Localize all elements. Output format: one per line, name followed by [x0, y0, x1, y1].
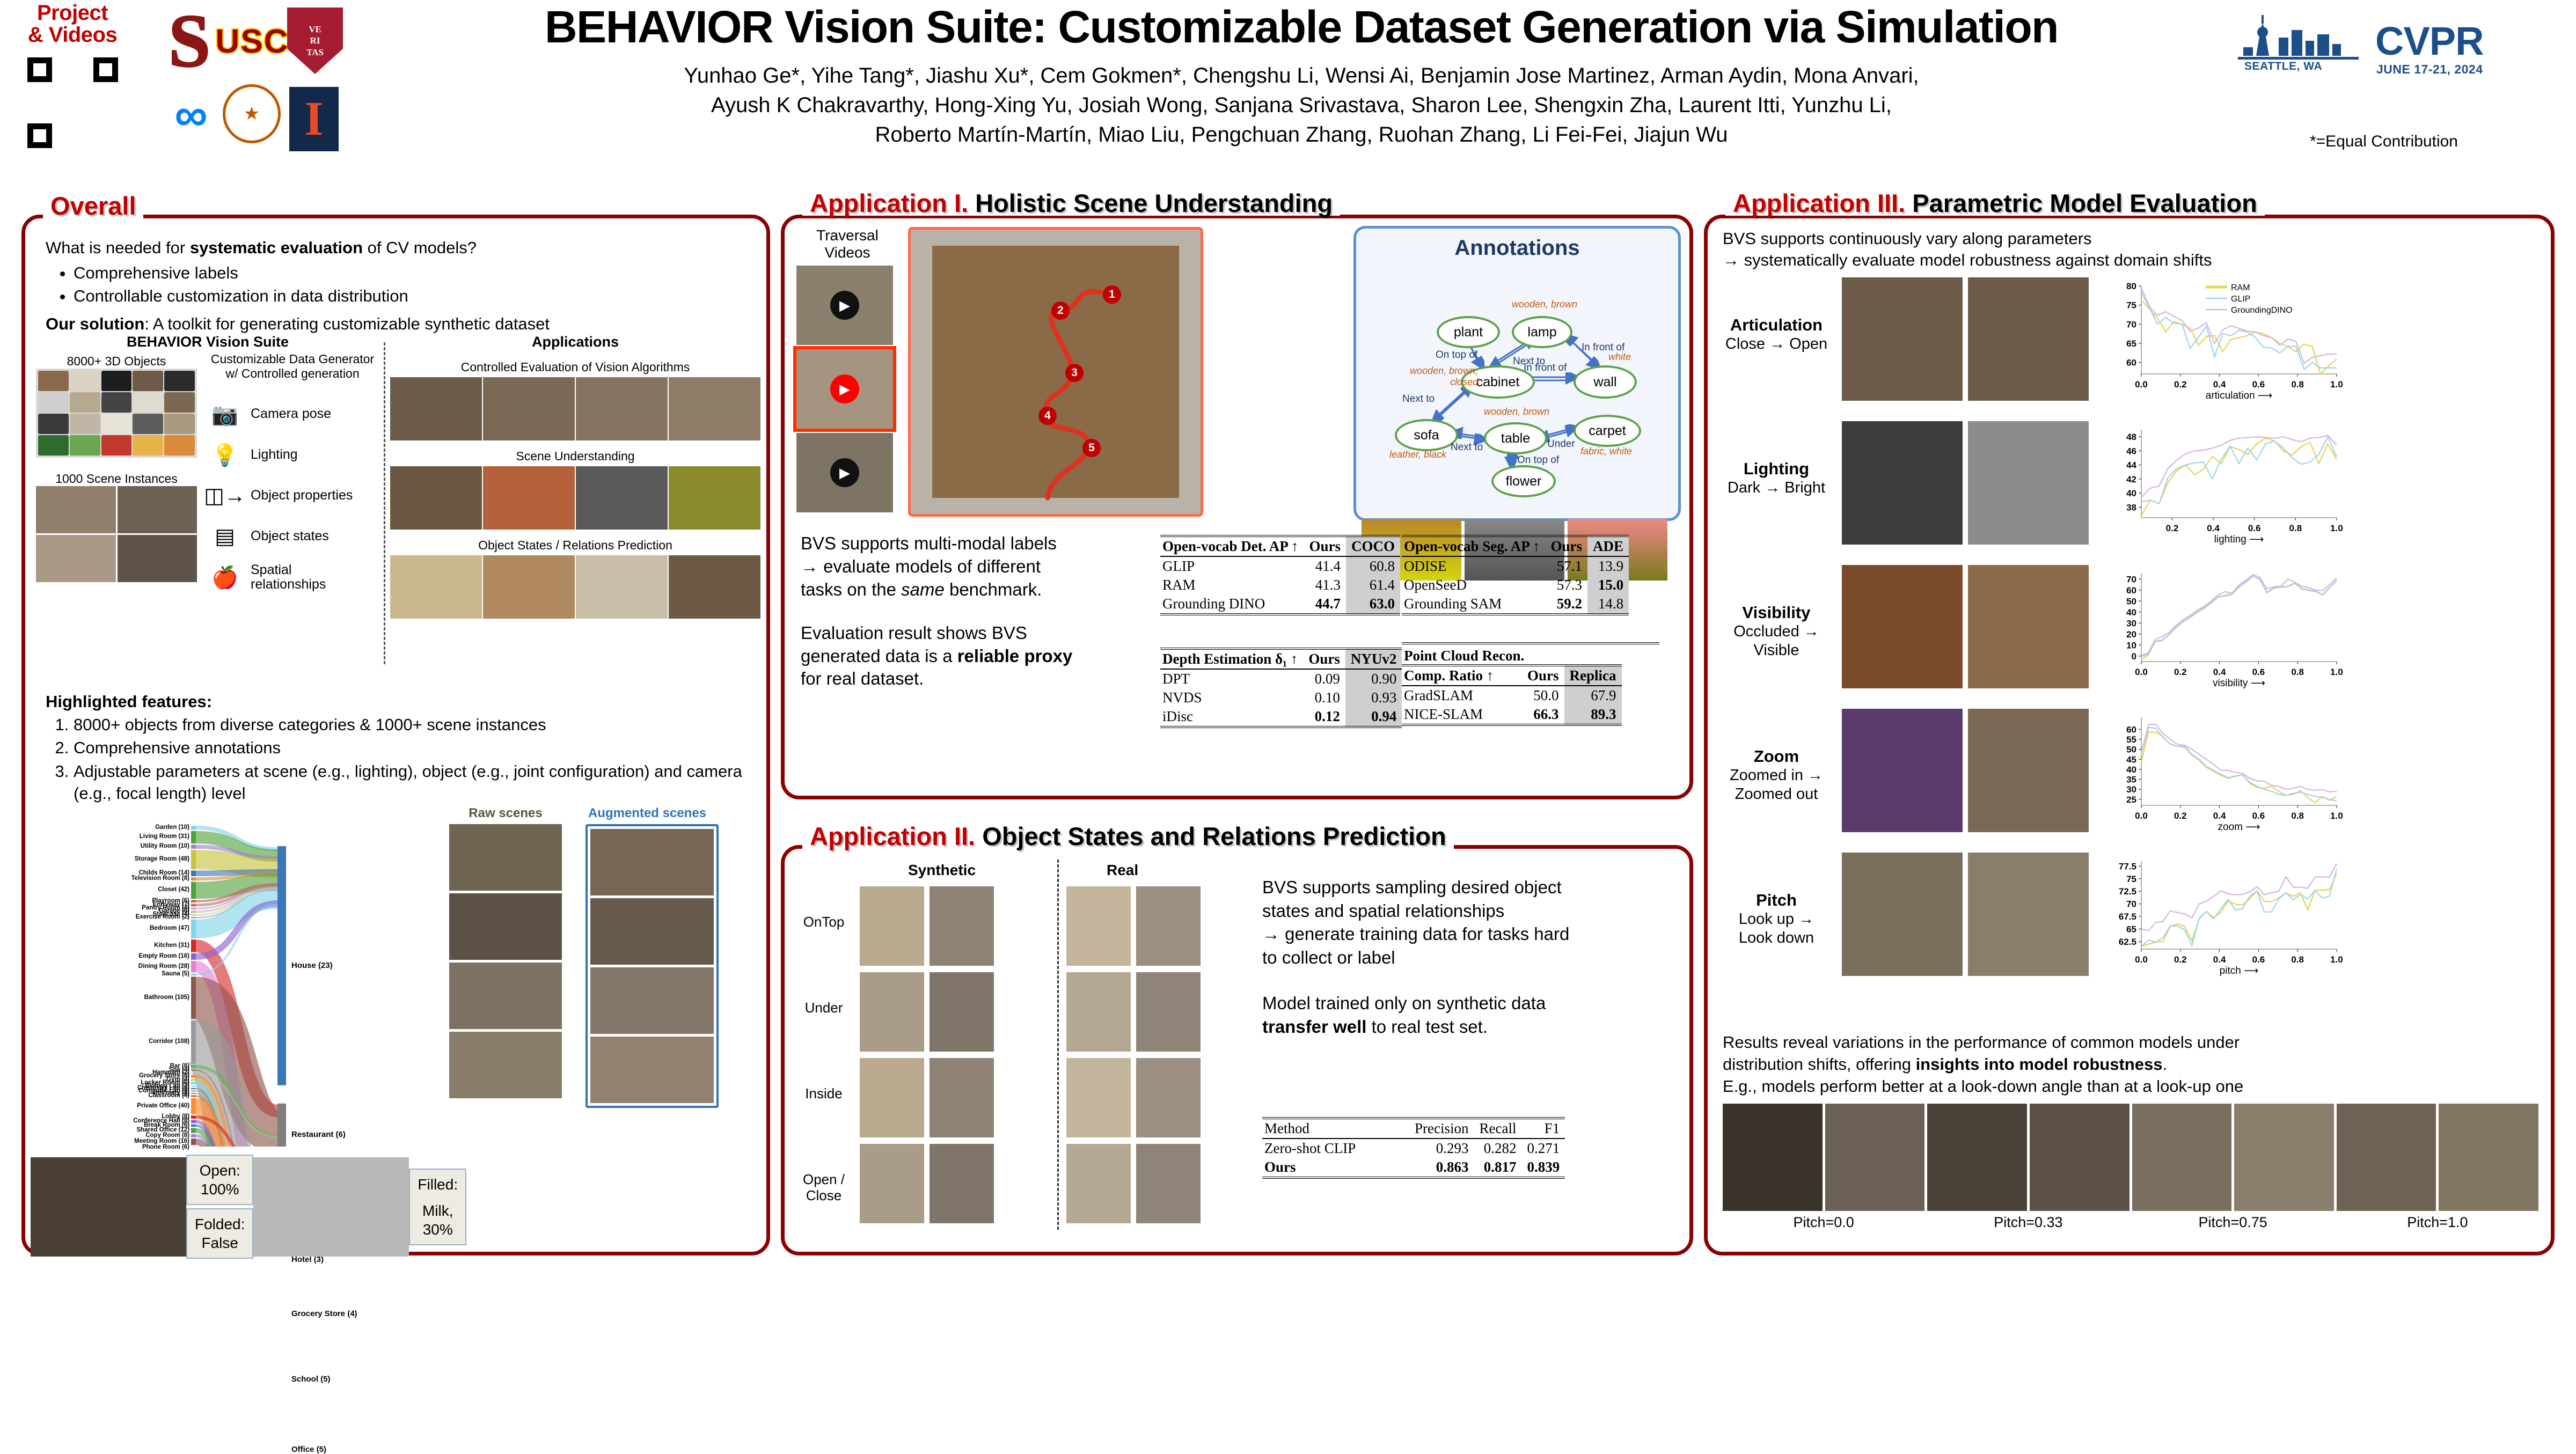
video-thumbnail-3[interactable]: ▶	[796, 433, 893, 512]
table-header-cell: ADE	[1587, 536, 1629, 556]
app1-text2-a: Evaluation result shows BVS	[801, 623, 1027, 643]
overall-bullet-list: Comprehensive labels Controllable custom…	[46, 262, 738, 307]
table-cell: GLIP	[1160, 556, 1304, 576]
waypoint-4: 4	[1038, 407, 1057, 425]
app3-pitch-gallery: Pitch=0.0 Pitch=0.33 Pitch=0.75 Pitch=1.…	[1723, 1104, 2538, 1231]
app3-plot-svg: 3840424446480.20.40.60.81.0lighting ⟶	[2099, 418, 2346, 546]
table-cell: 0.271	[1521, 1139, 1565, 1158]
graph-node-lamp: lamp	[1512, 316, 1572, 348]
table-cell: Ours	[1262, 1158, 1409, 1178]
app3-conclusion-bold: insights into model robustness	[1916, 1055, 2163, 1074]
waypoint-5: 5	[1082, 439, 1101, 457]
app3-row-name: Visibility	[1717, 603, 1835, 622]
svg-text:0.2: 0.2	[2174, 811, 2187, 821]
scene-graph: plant lamp cabinet wall sofa table carpe…	[1356, 260, 1678, 507]
authors-line-3-wrap: Roberto Martín-Martín, Miao Liu, Pengchu…	[376, 120, 2227, 150]
play-icon-1[interactable]: ▶	[830, 291, 859, 320]
sankey-target-label: Office (5)	[291, 1445, 326, 1453]
svg-text:0.8: 0.8	[2291, 811, 2304, 821]
augmented-scenes-label: Augmented scenes	[586, 806, 709, 821]
table-row: RAM41.361.4	[1160, 576, 1400, 594]
table-cell: 0.839	[1521, 1158, 1565, 1178]
app2-text-b: states and spatial relationships	[1262, 901, 1504, 921]
table-cell: 41.4	[1304, 556, 1346, 576]
svg-text:50: 50	[2126, 596, 2136, 606]
pointcloud-header-line1: Point Cloud Recon.	[1402, 644, 1659, 664]
svg-text:0.4: 0.4	[2207, 523, 2220, 533]
app1-text2-b: generated data is a	[801, 646, 957, 666]
callout-open-line1: Open:	[195, 1161, 245, 1180]
table-cell: 89.3	[1564, 705, 1622, 725]
graph-node-table: table	[1484, 422, 1547, 454]
app3-conclusion-c: .	[2162, 1055, 2167, 1074]
app2-text-d: to collect or label	[1262, 948, 1395, 967]
svg-text:30: 30	[2126, 618, 2136, 628]
svg-text:65: 65	[2126, 924, 2136, 935]
svg-text:75: 75	[2126, 874, 2136, 884]
table-row: ODISE57.113.9	[1402, 556, 1629, 576]
overall-solution-text: : A toolkit for generating customizable …	[144, 314, 550, 333]
app2-text-bold: transfer well	[1262, 1017, 1366, 1037]
ut-austin-seal-icon: ★	[223, 84, 281, 143]
state-image-towel	[31, 1157, 186, 1257]
app-section-label-1: Scene Understanding	[390, 449, 760, 464]
cvpr-dates: JUNE 17-21, 2024	[2376, 62, 2483, 77]
scene-thumbnail-grid	[36, 486, 197, 582]
app3-intro-a: BVS supports continuously vary along par…	[1723, 228, 2538, 249]
poster-root: Project & Videos S USC VE RI TAS ∞	[0, 0, 2576, 1288]
table-header-cell: COCO	[1346, 536, 1400, 556]
sankey-source-label: Bedroom (47)	[150, 926, 189, 932]
app2-example-image	[1066, 1058, 1131, 1137]
table-row: NVDS0.100.93	[1160, 688, 1402, 707]
app1-text-2: Evaluation result shows BVS generated da…	[801, 622, 1139, 691]
app2-text-block-2: Model trained only on synthetic data tra…	[1262, 992, 1638, 1038]
graph-edge-nextto-sofa: Next to	[1402, 393, 1435, 405]
callout-folded-line1: Folded:	[195, 1215, 245, 1233]
svg-text:articulation ⟶: articulation ⟶	[2206, 390, 2272, 401]
app3-plot-articulation: 60657075800.00.20.40.60.81.0articulation…	[2099, 274, 2346, 402]
video-thumbnail-1[interactable]: ▶	[796, 266, 893, 345]
app2-title-red: Application II.	[810, 822, 975, 850]
video-thumbnail-2[interactable]: ▶	[796, 349, 893, 429]
ut-austin-logo: ★	[223, 85, 281, 143]
app1-text1-b: → evaluate models of different	[801, 556, 1041, 576]
svg-text:0.6: 0.6	[2248, 523, 2261, 533]
svg-text:45: 45	[2126, 754, 2136, 765]
table-header-cell: Depth Estimation δ₁ ↑	[1160, 649, 1303, 669]
svg-text:1.0: 1.0	[2330, 667, 2343, 677]
svg-text:67.5: 67.5	[2119, 912, 2136, 922]
graph-edge-ontop-flower: On top of	[1517, 454, 1559, 466]
app1-title-black: Holistic Scene Understanding	[975, 189, 1333, 217]
app3-parameter-image	[1968, 421, 2089, 545]
authors-line-2: Ayush K Chakravarthy, Hong-Xing Yu, Josi…	[376, 91, 2227, 120]
svg-text:RAM: RAM	[2231, 283, 2250, 292]
app2-row-label: OnTop	[794, 914, 853, 930]
app3-parameter-image	[1842, 277, 1963, 401]
graph-node-wall: wall	[1574, 365, 1637, 399]
app2-title-black: Object States and Relations Prediction	[982, 822, 1446, 850]
app3-row-name: Pitch	[1717, 890, 1835, 910]
graph-edge-under-carpet: Under	[1547, 438, 1575, 450]
app2-section-title: Application II. Object States and Relati…	[802, 824, 1454, 849]
table-cell: 0.09	[1303, 669, 1345, 688]
pitch-label-0: Pitch=0.0	[1723, 1214, 1924, 1231]
app-section-label-2: Object States / Relations Prediction	[390, 538, 760, 553]
svg-text:0.4: 0.4	[2213, 667, 2226, 677]
app1-text1-c: tasks on the	[801, 579, 901, 599]
svg-text:0: 0	[2132, 651, 2136, 662]
app3-conclusion-d: E.g., models perform better at a look-do…	[1723, 1075, 2538, 1097]
cvpr-wordmark: CVPR	[2375, 18, 2484, 64]
app3-plot-svg: 25303540455055600.00.20.40.60.81.0zoom ⟶	[2099, 706, 2346, 833]
app2-example-image	[1136, 1144, 1201, 1223]
graph-edge-nextto-table: Next to	[1451, 442, 1483, 453]
overall-solution: Our solution: A toolkit for generating c…	[46, 313, 738, 335]
svg-text:72.5: 72.5	[2119, 886, 2136, 897]
state-image-cup	[253, 1157, 409, 1257]
table-cell: NVDS	[1160, 688, 1303, 707]
annotations-card: Annotations	[1353, 226, 1681, 521]
table-cell: 0.94	[1345, 707, 1402, 727]
app3-pitch-labels: Pitch=0.0 Pitch=0.33 Pitch=0.75 Pitch=1.…	[1723, 1214, 2538, 1231]
title-block: BEHAVIOR Vision Suite: Customizable Data…	[376, 3, 2227, 150]
app2-text-f: to real test set.	[1366, 1017, 1488, 1037]
svg-text:46: 46	[2126, 446, 2136, 456]
equal-contribution-note: *=Equal Contribution	[2310, 130, 2458, 152]
table-cell: 61.4	[1346, 576, 1400, 594]
app3-row-name: Articulation	[1717, 315, 1835, 335]
app3-title-black: Parametric Model Evaluation	[1912, 189, 2257, 217]
table-row: Zero-shot CLIP0.2930.2820.271	[1262, 1139, 1565, 1158]
table-row: Grounding DINO44.763.0	[1160, 594, 1400, 614]
table-cell: 50.0	[1522, 686, 1564, 705]
app2-text-block-1: BVS supports sampling desired object sta…	[1262, 876, 1638, 969]
svg-text:0.2: 0.2	[2166, 523, 2179, 533]
svg-text:1.0: 1.0	[2330, 379, 2343, 390]
table-depth-estimation: Depth Estimation δ₁ ↑OursNYUv2DPT0.090.9…	[1160, 648, 1402, 728]
svg-text:77.5: 77.5	[2119, 861, 2136, 871]
svg-text:0.8: 0.8	[2291, 954, 2304, 965]
app2-example-image	[930, 1058, 994, 1137]
app1-text-1: BVS supports multi-modal labels → evalua…	[801, 532, 1139, 601]
sankey-source-label: Classroom (4)	[148, 1093, 189, 1099]
generator-feature-label-3: Object states	[251, 529, 329, 544]
app-section-label-0: Controlled Evaluation of Vision Algorith…	[390, 360, 760, 374]
svg-text:75: 75	[2126, 300, 2136, 311]
table-cell: 0.10	[1303, 688, 1345, 707]
cvpr-logo: SEATTLE, WA CVPR JUNE 17-21, 2024	[2233, 11, 2533, 86]
objects-label: 8000+ 3D Objects	[36, 354, 197, 369]
app2-example-image	[930, 972, 994, 1052]
pitch-label-2: Pitch=0.75	[2132, 1214, 2334, 1231]
table-cell: 0.863	[1409, 1158, 1474, 1178]
callout-filled-line3: 30%	[418, 1220, 458, 1239]
svg-text:70: 70	[2126, 574, 2136, 584]
table-cell: 66.3	[1522, 705, 1564, 725]
app1-text2-c: for real dataset.	[801, 669, 924, 688]
generator-block: Customizable Data Generator w/ Controlle…	[207, 352, 378, 598]
app2-example-image	[1136, 972, 1201, 1052]
app1-text1-italic: same	[901, 579, 945, 599]
app3-row-name: Zoom	[1717, 746, 1835, 766]
traversal-thumbnails: ▶ ▶ ▶	[796, 266, 898, 512]
svg-text:70: 70	[2126, 319, 2136, 329]
illinois-i-glyph: I	[304, 95, 323, 143]
app3-pitch-images	[1723, 1104, 2538, 1211]
traversal-heading: Traversal Videos	[796, 227, 898, 261]
table-cell: 57.1	[1546, 556, 1588, 576]
app3-section-title: Application III. Parametric Model Evalua…	[1725, 190, 2265, 216]
qr-title-line1: Project	[5, 2, 140, 24]
table-header-cell: Recall	[1474, 1118, 1522, 1139]
app2-row-label: Under	[794, 1000, 853, 1016]
svg-text:0.0: 0.0	[2135, 954, 2148, 965]
generator-feature-lighting: 💡 Lighting	[207, 435, 384, 475]
svg-text:GLIP: GLIP	[2231, 295, 2250, 304]
svg-text:62.5: 62.5	[2119, 937, 2136, 947]
raw-aug-columns	[449, 824, 750, 1108]
svg-text:10: 10	[2126, 640, 2136, 650]
table-cell: 0.817	[1474, 1158, 1522, 1178]
waypoint-2: 2	[1051, 302, 1070, 320]
highlight-item-0: 8000+ objects from diverse categories & …	[74, 714, 743, 736]
svg-text:0.6: 0.6	[2252, 379, 2265, 390]
table-cell: 44.7	[1304, 594, 1346, 614]
app2-example-image	[930, 886, 994, 966]
table-row: GLIP41.460.8	[1160, 556, 1400, 576]
camera-icon: 📷	[207, 402, 243, 427]
sankey-source-label: Utility Room (10)	[141, 843, 189, 850]
pitch-label-3: Pitch=1.0	[2337, 1214, 2538, 1231]
graph-attr-sofa: leather, black	[1389, 449, 1446, 460]
meta-logo: ∞	[162, 90, 221, 139]
app2-col-real: Real	[1107, 862, 1138, 879]
sankey-source-label: Bathroom (105)	[144, 995, 189, 1001]
table-header-cell: Open-vocab Seg. AP ↑	[1402, 536, 1546, 556]
graph-edge-infront-wall: In front of	[1524, 362, 1567, 374]
stanford-logo: S	[157, 1, 222, 82]
app3-parameter-image	[1968, 853, 2089, 976]
play-icon-3[interactable]: ▶	[830, 458, 859, 487]
sankey-source-label: Kitchen (31)	[154, 943, 189, 949]
traversal-videos: Traversal Videos ▶ ▶ ▶	[796, 227, 898, 512]
svg-text:0.2: 0.2	[2174, 954, 2187, 965]
institution-logos: S USC VE RI TAS ∞ ★ I	[142, 0, 368, 190]
table-cell: 67.9	[1564, 686, 1622, 705]
table-cell: 63.0	[1346, 594, 1400, 614]
sankey-source-label: Dining Room (28)	[138, 964, 189, 970]
table-point-cloud: Point Cloud Recon. Comp. Ratio ↑OursRepl…	[1402, 642, 1659, 726]
sankey-source-label: Exercise Room (2)	[136, 914, 189, 921]
app3-plot-lighting: 3840424446480.20.40.60.81.0lighting ⟶	[2099, 418, 2346, 546]
app3-conclusion: Results reveal variations in the perform…	[1723, 1031, 2538, 1098]
app3-title-red: Application III.	[1733, 189, 1905, 217]
waypoint-3: 3	[1065, 364, 1084, 382]
highlighted-features: Highlighted features: 8000+ objects from…	[46, 691, 743, 805]
app3-intro: BVS supports continuously vary along par…	[1723, 228, 2538, 271]
poster-title: BEHAVIOR Vision Suite: Customizable Data…	[376, 3, 2227, 50]
svg-text:60: 60	[2126, 724, 2136, 735]
table-header-cell: Method	[1262, 1118, 1409, 1139]
graph-attr-wall: white	[1608, 351, 1631, 363]
svg-text:80: 80	[2126, 281, 2136, 291]
svg-text:0.0: 0.0	[2135, 811, 2148, 821]
app2-example-image	[860, 1144, 924, 1223]
sankey-source-label: Living Room (31)	[140, 834, 189, 840]
waypoint-1: 1	[1103, 285, 1121, 304]
objects-block: 8000+ 3D Objects 1000 Scene Instances	[36, 354, 197, 582]
usc-logo: USC	[223, 20, 282, 62]
generator-feature-label-2: Object properties	[251, 488, 353, 503]
app3-row-range: Occluded → Visible	[1717, 622, 1835, 660]
illinois-logo: I	[286, 85, 342, 153]
table-cell: 14.8	[1587, 594, 1629, 614]
app3-plot-zoom: 25303540455055600.00.20.40.60.81.0zoom ⟶	[2099, 706, 2346, 833]
raw-scenes-label: Raw scenes	[449, 806, 562, 821]
overall-bullet-1: Controllable customization in data distr…	[74, 285, 738, 307]
table-cell: Grounding DINO	[1160, 594, 1304, 614]
sankey-source-label: Sauna (5)	[162, 971, 189, 978]
svg-text:40: 40	[2126, 607, 2136, 618]
object-thumbnail-grid	[36, 369, 197, 458]
svg-text:60: 60	[2126, 585, 2136, 596]
app3-row-label: PitchLook up → Look down	[1717, 890, 1835, 948]
svg-text:30: 30	[2126, 784, 2136, 795]
lamp-icon: 💡	[207, 443, 243, 468]
object-state-examples: Open: 100% Folded: False Filled: Milk, 3…	[31, 1155, 696, 1259]
sankey-source-label: Private Office (40)	[137, 1103, 189, 1110]
authors-line-3: Roberto Martín-Martín, Miao Liu, Pengchu…	[875, 123, 1728, 146]
sankey-source-label: Empty Room (16)	[138, 953, 189, 960]
table-row: DPT0.090.90	[1160, 669, 1402, 688]
table-cell: ODISE	[1402, 556, 1546, 576]
table-header-cell: Replica	[1564, 665, 1622, 686]
applications-column: Applications Controlled Evaluation of Vi…	[390, 334, 760, 619]
table-cell: 0.90	[1345, 669, 1402, 688]
app3-row-label: ZoomZoomed in → Zoomed out	[1717, 746, 1835, 804]
callout-open: Open: 100%	[186, 1155, 253, 1205]
generator-label-1: Customizable Data Generator	[207, 352, 378, 366]
app3-row-range: Look up → Look down	[1717, 910, 1835, 948]
sankey-source-label: Storage Room (48)	[135, 856, 189, 863]
table-cell: DPT	[1160, 669, 1303, 688]
callout-filled-line1: Filled:	[418, 1175, 458, 1194]
svg-text:0.2: 0.2	[2174, 667, 2187, 677]
svg-text:0.0: 0.0	[2135, 667, 2148, 677]
svg-text:0.2: 0.2	[2174, 379, 2187, 390]
app3-conclusion-line2: distribution shifts, offering insights i…	[1723, 1053, 2538, 1075]
table-row: NICE-SLAM66.389.3	[1402, 705, 1622, 725]
table-row: Grounding SAM59.214.8	[1402, 594, 1629, 614]
svg-text:0.6: 0.6	[2252, 811, 2265, 821]
graph-attr-carpet: fabric, white	[1580, 446, 1632, 457]
table-cell: iDisc	[1160, 707, 1303, 727]
generator-feature-label-1: Lighting	[251, 447, 298, 462]
overall-title-text: Overall	[50, 192, 136, 220]
table-cell: 0.12	[1303, 707, 1345, 727]
svg-text:65: 65	[2126, 339, 2136, 349]
table-cell: NICE-SLAM	[1402, 705, 1522, 725]
scenes-label: 1000 Scene Instances	[36, 472, 197, 486]
generator-feature-spatial: 🍎 Spatial relationships	[207, 557, 384, 598]
app2-example-image	[860, 886, 924, 966]
table-cell: 59.2	[1546, 594, 1588, 614]
raw-augmented-scenes: Raw scenes Augmented scenes	[449, 806, 750, 1108]
app3-parameter-image	[1842, 421, 1963, 545]
app3-panel: BVS supports continuously vary along par…	[1704, 215, 2555, 1255]
table-cell: 0.293	[1409, 1139, 1474, 1158]
app1-section-title: Application I. Holistic Scene Understand…	[802, 190, 1340, 216]
generator-feature-label-0: Camera pose	[251, 407, 331, 422]
cube-transform-icon: ◫→	[207, 483, 243, 508]
svg-text:38: 38	[2126, 502, 2136, 512]
svg-text:20: 20	[2126, 629, 2136, 640]
table-states-relations: MethodPrecisionRecallF1Zero-shot CLIP0.2…	[1262, 1117, 1565, 1179]
highlight-list: 8000+ objects from diverse categories & …	[46, 714, 743, 804]
app3-plot-svg: 0102030405060700.00.20.40.60.81.0visibil…	[2099, 562, 2346, 689]
qr-code-icon[interactable]	[24, 54, 122, 152]
table-cell: 57.3	[1546, 576, 1588, 594]
sankey-source-label: Garden (10)	[155, 825, 189, 831]
sankey-source-label: Phone Room (6)	[142, 1144, 189, 1151]
table-row: OpenSeeD57.315.0	[1402, 576, 1629, 594]
svg-text:1.0: 1.0	[2330, 523, 2343, 533]
svg-text:0.8: 0.8	[2289, 523, 2302, 533]
stanford-s-glyph: S	[169, 11, 210, 72]
table-header-cell: NYUv2	[1345, 649, 1402, 669]
play-icon-2[interactable]: ▶	[830, 374, 859, 403]
app-shots-2	[390, 555, 760, 619]
table-cell: 15.0	[1587, 576, 1629, 594]
overall-intro: What is needed for systematic evaluation…	[46, 237, 738, 335]
table-row: Ours0.8630.8170.839	[1262, 1158, 1565, 1178]
callout-filled-line2: Milk,	[418, 1201, 458, 1220]
app2-synthetic-real-divider	[1057, 860, 1059, 1230]
table-cell: RAM	[1160, 576, 1304, 594]
app3-parameter-image	[1968, 277, 2089, 401]
table-cell: Grounding SAM	[1402, 594, 1546, 614]
table-header-cell: Open-vocab Det. AP ↑	[1160, 536, 1304, 556]
sankey-target-label: Grocery Store (4)	[291, 1310, 357, 1318]
overall-diagram: BEHAVIOR Vision Suite 8000+ 3D Objects 1…	[36, 334, 763, 677]
app3-row-range: Close → Open	[1717, 335, 1835, 354]
app1-description: BVS supports multi-modal labels → evalua…	[801, 532, 1139, 691]
author-list: Yunhao Ge*, Yihe Tang*, Jiashu Xu*, Cem …	[376, 61, 2227, 149]
table-cell: 0.93	[1345, 688, 1402, 707]
svg-text:70: 70	[2126, 899, 2136, 909]
graph-node-carpet: carpet	[1574, 415, 1641, 447]
svg-text:35: 35	[2126, 775, 2136, 785]
traversal-label-2: Videos	[796, 244, 898, 261]
project-qr-block[interactable]: Project & Videos	[5, 2, 140, 152]
graph-edge-ontop-plant: On top of	[1436, 349, 1477, 361]
harvard-shield-icon: VE RI TAS	[287, 8, 343, 74]
app2-example-image	[1066, 1144, 1131, 1223]
app3-plot-pitch: 62.56567.57072.57577.50.00.20.40.60.81.0…	[2099, 849, 2346, 977]
harvard-word-3: TAS	[306, 47, 324, 58]
bvs-column: BEHAVIOR Vision Suite 8000+ 3D Objects 1…	[36, 334, 379, 350]
app2-text-e: Model trained only on synthetic data	[1262, 993, 1546, 1013]
svg-text:GroundingDINO: GroundingDINO	[2231, 306, 2293, 315]
graph-attr-lamp: wooden, brown	[1512, 299, 1577, 310]
table-row: iDisc0.120.94	[1160, 707, 1402, 727]
svg-text:0.0: 0.0	[2135, 379, 2148, 390]
svg-text:40: 40	[2126, 488, 2136, 498]
app1-text1-a: BVS supports multi-modal labels	[801, 533, 1057, 553]
poster-header: Project & Videos S USC VE RI TAS ∞	[0, 0, 2576, 193]
